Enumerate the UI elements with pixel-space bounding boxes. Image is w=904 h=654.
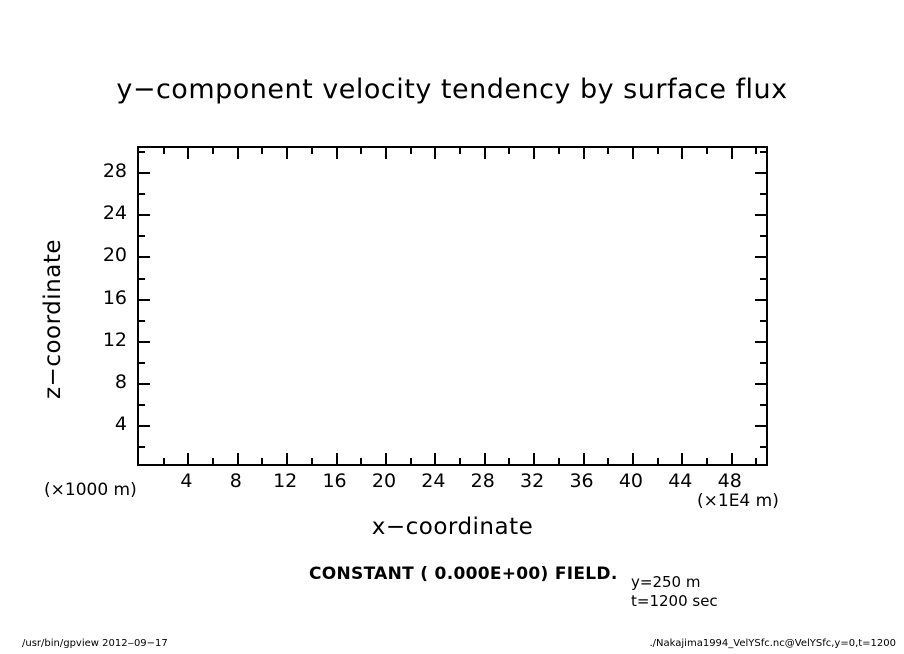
axis-tick — [681, 453, 683, 464]
axis-tick — [508, 148, 510, 154]
axis-tick — [484, 453, 486, 464]
axis-tick — [681, 148, 683, 159]
axis-tick — [607, 458, 609, 464]
x-tick-label: 44 — [668, 470, 692, 492]
axis-tick — [139, 172, 150, 174]
axis-tick — [434, 453, 436, 464]
axis-tick — [706, 148, 708, 154]
y-tick-label: 24 — [103, 202, 127, 224]
y-tick-label: 8 — [115, 371, 127, 393]
slice-info-block: y=250 m t=1200 sec — [631, 573, 718, 611]
footer-datasource-info: ./Nakajima1994_VelYSfc.nc@VelYSfc,y=0,t=… — [650, 638, 897, 649]
axis-tick — [139, 235, 145, 237]
axis-tick — [163, 148, 165, 154]
axis-tick — [212, 458, 214, 464]
y-tick-label: 4 — [115, 413, 127, 435]
axis-tick — [139, 362, 145, 364]
axis-tick — [706, 458, 708, 464]
axis-tick — [237, 148, 239, 159]
x-tick-label: 36 — [569, 470, 593, 492]
axis-tick — [755, 172, 766, 174]
axis-tick — [760, 404, 766, 406]
plot-canvas: y−component velocity tendency by surface… — [0, 0, 904, 654]
axis-tick — [286, 453, 288, 464]
axis-tick — [760, 235, 766, 237]
footer-command-info: /usr/bin/gpview 2012‒09−17 — [22, 638, 168, 649]
axis-tick — [139, 256, 150, 258]
axis-tick — [311, 148, 313, 154]
axis-tick — [286, 148, 288, 159]
y-tick-label: 16 — [103, 287, 127, 309]
axis-tick — [558, 458, 560, 464]
axis-tick — [139, 214, 150, 216]
x-tick-label: 24 — [421, 470, 445, 492]
x-axis-title: x−coordinate — [137, 514, 768, 540]
axis-tick — [533, 148, 535, 159]
axis-tick — [434, 148, 436, 159]
axis-tick — [139, 278, 145, 280]
axis-tick — [760, 193, 766, 195]
axis-tick — [163, 458, 165, 464]
axis-tick — [311, 458, 313, 464]
axis-tick — [139, 404, 145, 406]
axis-tick — [760, 362, 766, 364]
y-axis-unit-label: (×1000 m) — [44, 480, 137, 500]
axis-tick — [261, 148, 263, 154]
axis-tick — [533, 453, 535, 464]
axis-tick — [755, 256, 766, 258]
axis-tick — [385, 148, 387, 159]
axis-tick — [237, 453, 239, 464]
axis-tick — [632, 148, 634, 159]
axis-tick — [755, 148, 757, 154]
x-tick-label: 28 — [471, 470, 495, 492]
axis-tick — [583, 148, 585, 159]
y-axis-title: z−coordinate — [40, 229, 66, 409]
axis-tick — [139, 299, 150, 301]
constant-field-note: CONSTANT ( 0.000E+00) FIELD. — [309, 564, 618, 584]
y-tick-label: 28 — [103, 160, 127, 182]
axis-tick — [459, 148, 461, 154]
axis-tick — [336, 453, 338, 464]
axis-tick — [484, 148, 486, 159]
axis-tick — [755, 299, 766, 301]
axis-tick — [139, 151, 145, 153]
axis-tick — [336, 148, 338, 159]
axis-tick — [139, 383, 150, 385]
axis-tick — [139, 341, 150, 343]
axis-tick — [261, 458, 263, 464]
axis-tick — [139, 446, 145, 448]
axis-tick — [139, 193, 145, 195]
y-slice-value: y=250 m — [631, 573, 718, 592]
axis-tick — [760, 446, 766, 448]
axis-tick — [755, 458, 757, 464]
axis-tick — [632, 453, 634, 464]
page-title: y−component velocity tendency by surface… — [0, 74, 904, 105]
x-tick-label: 16 — [322, 470, 346, 492]
axis-tick — [410, 458, 412, 464]
axis-tick — [755, 341, 766, 343]
axis-tick — [657, 458, 659, 464]
axis-tick — [558, 148, 560, 154]
axis-tick — [583, 453, 585, 464]
y-tick-label: 20 — [103, 244, 127, 266]
axis-tick — [760, 151, 766, 153]
axis-tick — [755, 425, 766, 427]
axis-tick — [360, 148, 362, 154]
axis-tick — [607, 148, 609, 154]
y-tick-label: 12 — [103, 329, 127, 351]
axis-tick — [459, 458, 461, 464]
axis-tick — [212, 148, 214, 154]
axis-tick — [360, 458, 362, 464]
axis-tick — [657, 148, 659, 154]
axis-tick — [731, 148, 733, 159]
axis-tick — [731, 453, 733, 464]
x-tick-label: 40 — [619, 470, 643, 492]
x-tick-label: 4 — [180, 470, 192, 492]
axis-tick — [385, 453, 387, 464]
axis-tick — [139, 320, 145, 322]
axis-tick — [760, 320, 766, 322]
axis-tick — [508, 458, 510, 464]
x-tick-label: 32 — [520, 470, 544, 492]
plot-area — [137, 146, 768, 466]
axis-tick — [139, 425, 150, 427]
axis-tick — [755, 214, 766, 216]
x-axis-unit-label: (×1E4 m) — [697, 491, 779, 511]
x-tick-label: 48 — [718, 470, 742, 492]
axis-tick — [187, 148, 189, 159]
axis-tick — [755, 383, 766, 385]
axis-tick — [410, 148, 412, 154]
x-tick-label: 20 — [372, 470, 396, 492]
x-tick-label: 8 — [230, 470, 242, 492]
x-tick-label: 12 — [273, 470, 297, 492]
axis-tick — [760, 278, 766, 280]
axis-tick — [187, 453, 189, 464]
time-value: t=1200 sec — [631, 592, 718, 611]
